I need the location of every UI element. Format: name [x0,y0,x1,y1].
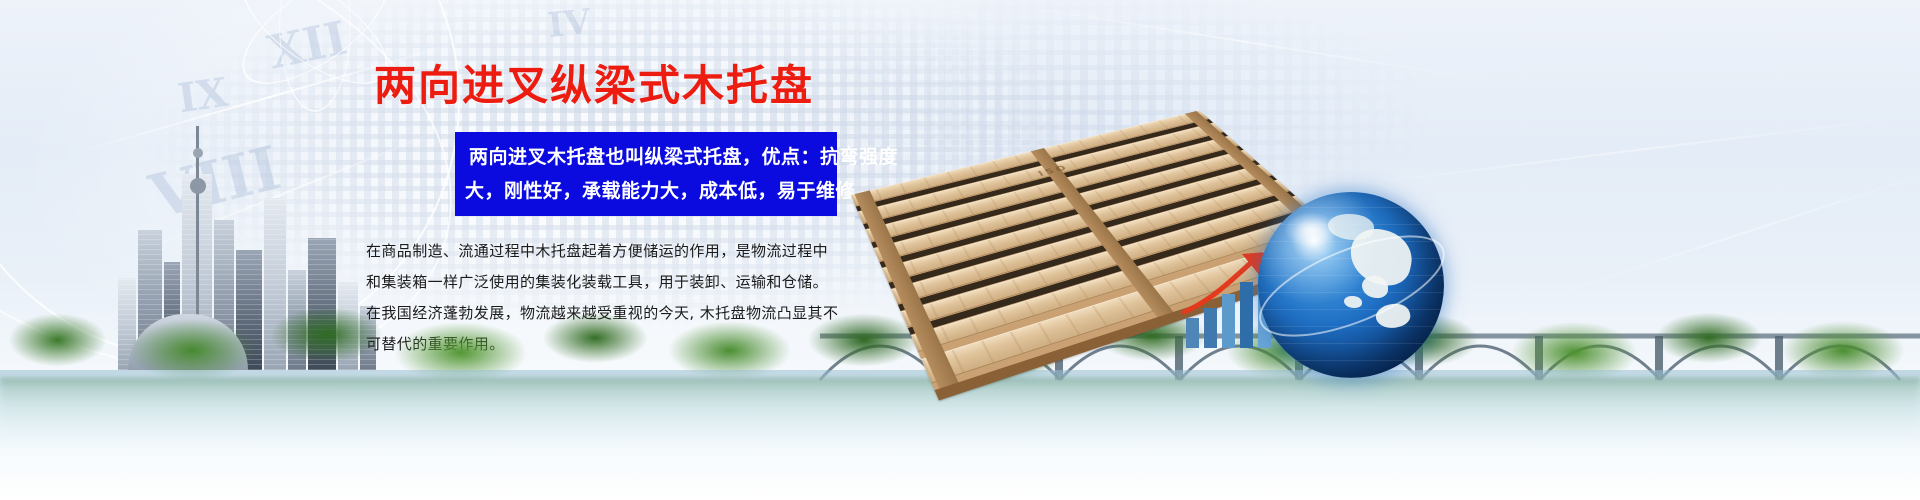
globe-graphic [1258,192,1458,392]
highlight-line-1: 两向进叉木托盘也叫纵梁式托盘，优点：抗弯强度 [469,140,827,174]
roman-numeral-decor-4: IV [546,2,592,46]
banner-title: 两向进叉纵梁式木托盘 [374,52,814,113]
roman-numeral-decor-0: XII [263,10,351,79]
tv-tower-ball-small [193,148,203,158]
water-reflection [0,370,1920,500]
atom-ring-3 [279,0,350,112]
body-line-1: 在商品制造、流通过程中木托盘起着方便储运的作用，是物流过程中 [366,236,856,267]
roman-numeral-decor-2: IX [175,69,231,122]
orbit-ring [1252,188,1452,388]
highlight-line-2: 大，刚性好，承载能力大，成本低，易于维修. [465,174,827,208]
light-streak-4 [1352,116,1908,186]
product-banner: XII VIII IX VII IV 两向进叉纵梁式木托盘 [0,0,1920,500]
highlight-text-box: 两向进叉木托盘也叫纵梁式托盘，优点：抗弯强度 大，刚性好，承载能力大，成本低，易… [455,132,837,216]
tv-tower-ball [190,178,206,194]
